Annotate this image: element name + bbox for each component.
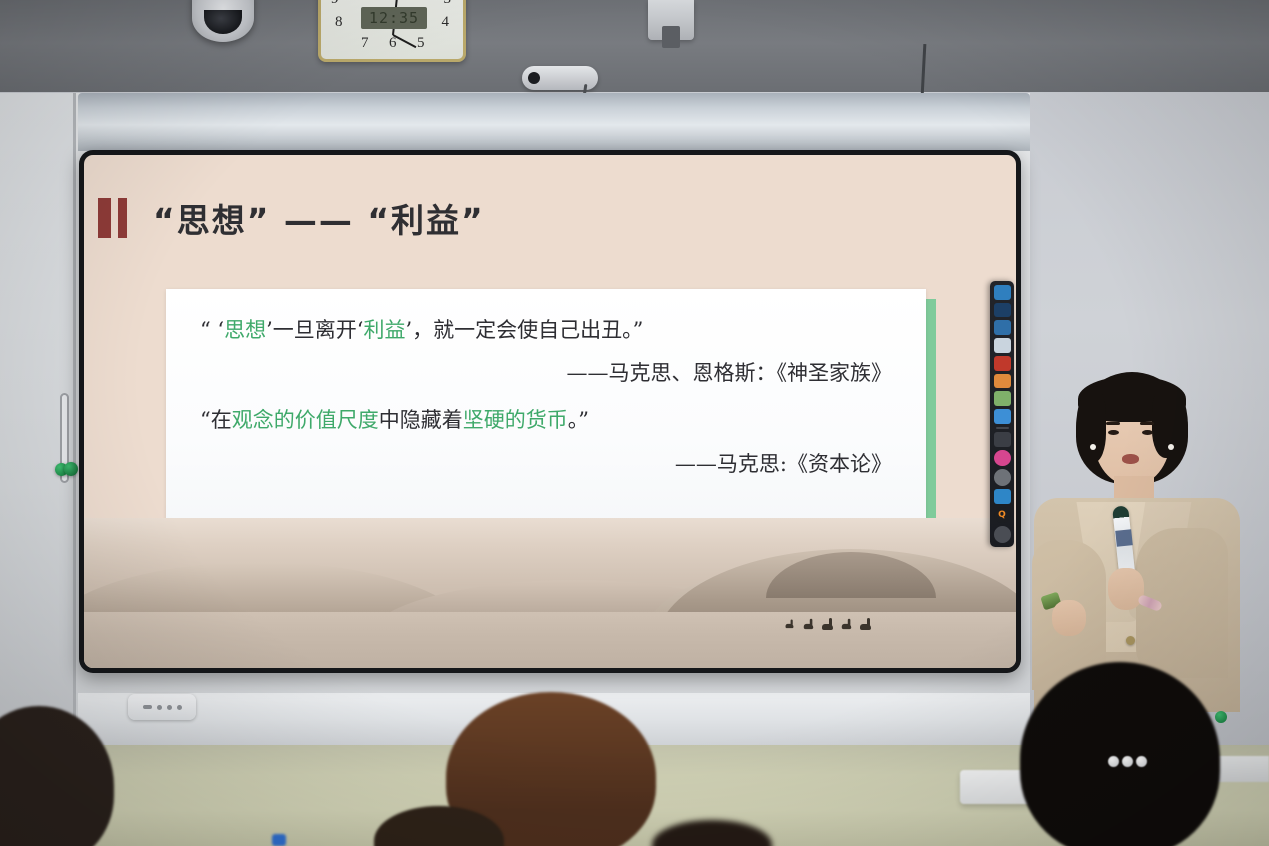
pearl-hairclip-icon bbox=[1108, 756, 1154, 769]
eyebrow bbox=[1140, 422, 1154, 425]
quote-text: 中隐藏着 bbox=[379, 408, 463, 432]
separator bbox=[996, 427, 1009, 429]
quote-open-mark: “ ‘ bbox=[200, 318, 224, 342]
student-head bbox=[1020, 662, 1220, 846]
quote-text: ’一旦离开‘ bbox=[266, 318, 363, 342]
taskbar-dock[interactable]: Q bbox=[990, 281, 1014, 547]
quote-highlight: 坚硬的货币 bbox=[463, 408, 568, 432]
contact-icon[interactable] bbox=[994, 303, 1011, 318]
grid-red-icon[interactable] bbox=[994, 356, 1011, 371]
clock-numeral: 9 bbox=[331, 0, 339, 8]
board-top-rail bbox=[78, 93, 1030, 151]
clock-numeral: 3 bbox=[444, 0, 452, 8]
image-green-icon[interactable] bbox=[994, 391, 1011, 406]
panel-led-icon bbox=[143, 705, 152, 709]
eyebrow bbox=[1106, 422, 1120, 425]
camel-icon bbox=[860, 617, 871, 630]
eye bbox=[1108, 430, 1119, 435]
pearl-icon bbox=[1108, 756, 1119, 767]
document-icon[interactable] bbox=[994, 338, 1011, 353]
media-pink-icon[interactable] bbox=[994, 450, 1011, 467]
panel-led-icon bbox=[157, 705, 162, 710]
app-gray-icon[interactable] bbox=[994, 469, 1011, 486]
camel-icon bbox=[822, 617, 833, 630]
clock-numeral: 8 bbox=[335, 14, 343, 31]
camel-icon bbox=[786, 619, 794, 628]
pearl-icon bbox=[1136, 756, 1147, 767]
quote-line-2: “在观念的价值尺度中隐藏着坚硬的货币。” bbox=[200, 405, 892, 435]
slide-screen[interactable]: “思想” —— “利益” “ ‘思想’一旦离开‘利益’，就一定会使自己出丑。” … bbox=[84, 155, 1016, 668]
panel-led-icon bbox=[177, 705, 182, 710]
eye bbox=[1142, 430, 1153, 435]
calendar-icon[interactable] bbox=[994, 409, 1011, 424]
ceiling-vent-icon bbox=[648, 0, 694, 40]
clock-numeral: 7 bbox=[361, 35, 369, 52]
qq-icon-glyph: Q bbox=[994, 507, 1011, 524]
quote-line-1: “ ‘思想’一旦离开‘利益’，就一定会使自己出丑。” bbox=[200, 315, 892, 345]
presenter-figure bbox=[1028, 372, 1243, 712]
sand-foreground bbox=[84, 612, 1016, 668]
settings-gear-icon[interactable] bbox=[994, 526, 1011, 543]
classroom-scene: 9 8 3 4 7 6 5 12:35 bbox=[0, 0, 1269, 846]
quote-highlight: 观念的价值尺度 bbox=[232, 408, 379, 432]
quote-text: ’，就一定会使自己出丑。” bbox=[405, 318, 643, 342]
quote-card: “ ‘思想’一旦离开‘利益’，就一定会使自己出丑。” ——马克思、恩格斯：《神圣… bbox=[166, 289, 926, 539]
blazer-button bbox=[1126, 636, 1135, 645]
title-marker-bar bbox=[118, 198, 127, 238]
clock-digital-display: 12:35 bbox=[361, 7, 427, 29]
quote-spacer bbox=[200, 387, 892, 405]
camel-icon bbox=[804, 618, 813, 629]
whiteboard-left-wing[interactable] bbox=[0, 93, 76, 743]
upper-wall bbox=[0, 0, 1269, 96]
pearl-icon bbox=[1122, 756, 1133, 767]
pen-icon bbox=[272, 834, 286, 846]
microphone-band bbox=[1115, 529, 1133, 547]
qq-icon[interactable]: Q bbox=[994, 507, 1011, 524]
green-magnet-icon bbox=[1215, 711, 1227, 723]
hair-side-left bbox=[1076, 386, 1106, 462]
quote-open-mark: “在 bbox=[200, 408, 232, 432]
slide-title-row: “思想” —— “利益” bbox=[84, 189, 1016, 247]
board-control-panel[interactable] bbox=[128, 694, 196, 720]
slide-title: “思想” —— “利益” bbox=[153, 194, 485, 242]
desert-photo bbox=[84, 518, 1016, 668]
clock-numeral: 5 bbox=[417, 35, 425, 52]
earring-icon bbox=[1090, 444, 1096, 450]
wall-clock: 9 8 3 4 7 6 5 12:35 bbox=[318, 0, 466, 62]
mouth bbox=[1122, 454, 1139, 464]
monitor-icon[interactable] bbox=[994, 285, 1011, 300]
quote-text: 。” bbox=[568, 408, 589, 432]
photo-warm-icon[interactable] bbox=[994, 374, 1011, 389]
camel-icon bbox=[842, 618, 851, 629]
camel-caravan-icon bbox=[784, 617, 871, 630]
folder-blue-icon[interactable] bbox=[994, 320, 1011, 335]
title-marker-bar bbox=[98, 198, 111, 238]
quote-highlight: 思想 bbox=[224, 318, 266, 342]
hand-left bbox=[1052, 600, 1086, 636]
quote-attribution-1: ——马克思、恩格斯：《神圣家族》 bbox=[200, 357, 892, 387]
title-marker-icon bbox=[98, 198, 127, 238]
display-screen-bezel: “思想” —— “利益” “ ‘思想’一旦离开‘利益’，就一定会使自己出丑。” … bbox=[79, 150, 1021, 673]
quote-attribution-2: ——马克思:《资本论》 bbox=[200, 448, 892, 478]
calculator-icon[interactable] bbox=[994, 432, 1011, 447]
green-magnet-icon bbox=[64, 462, 78, 476]
screen-blue-icon[interactable] bbox=[994, 489, 1011, 504]
clock-numeral: 4 bbox=[442, 14, 450, 31]
earring-icon bbox=[1168, 444, 1174, 450]
panel-led-icon bbox=[167, 705, 172, 710]
quote-highlight: 利益 bbox=[363, 318, 405, 342]
